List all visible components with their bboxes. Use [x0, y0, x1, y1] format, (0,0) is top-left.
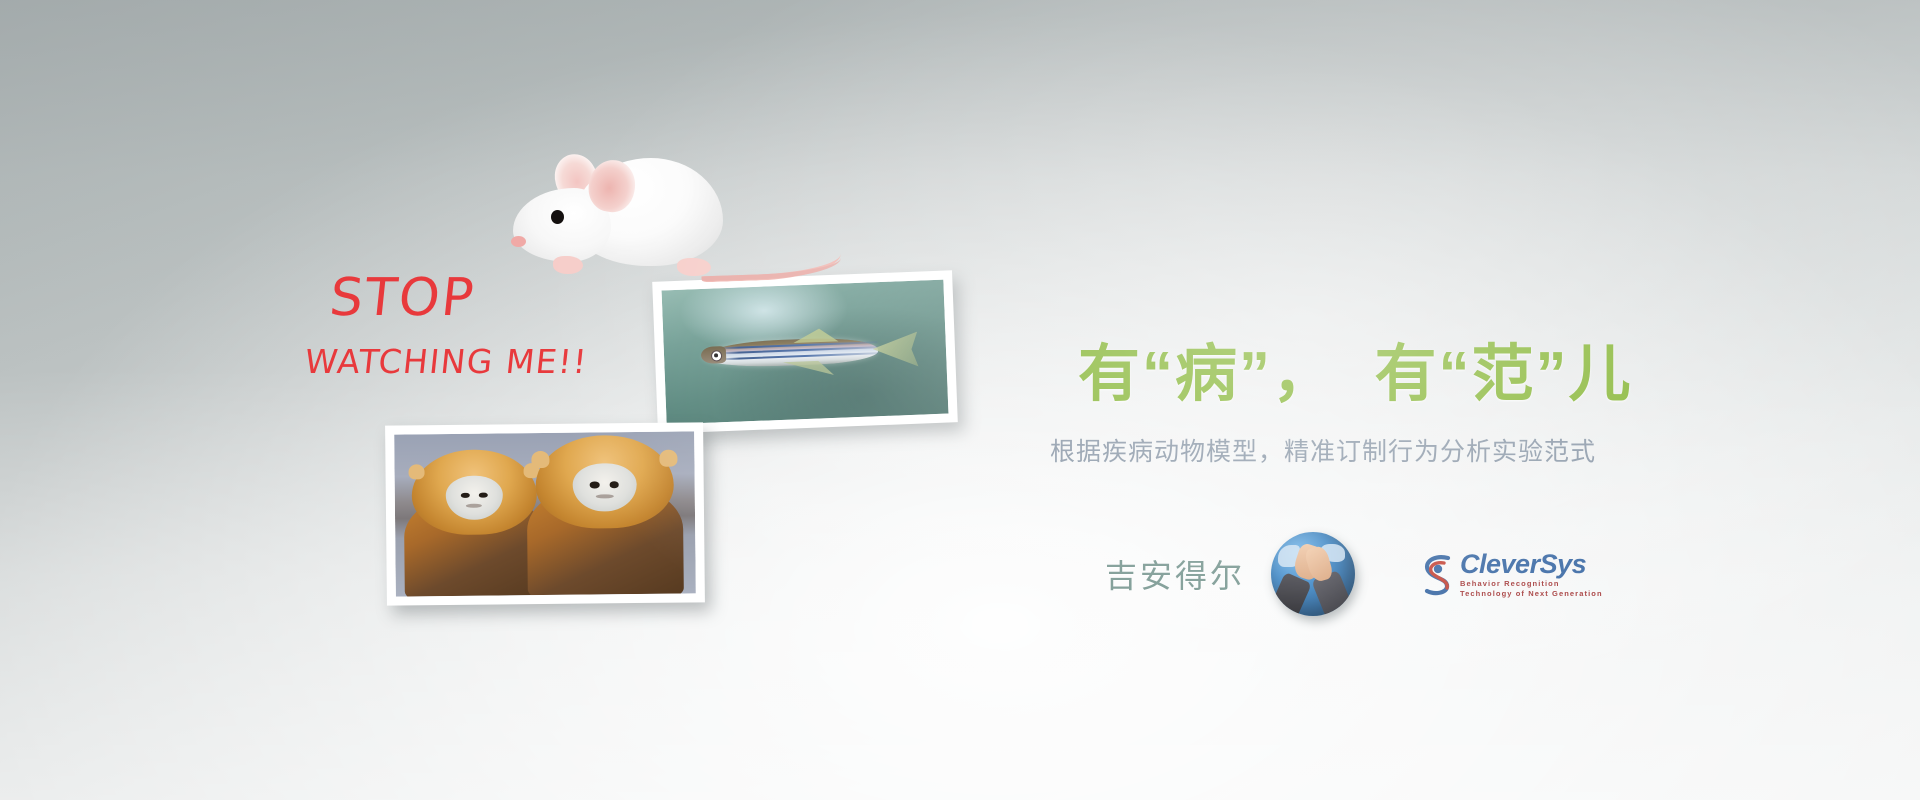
fish-tail-fin	[872, 332, 918, 369]
cleversys-logo[interactable]: CleverSys Behavior Recognition Technolog…	[1421, 551, 1603, 597]
monkey-eye	[590, 482, 600, 488]
cleversys-wordmark: CleverSys Behavior Recognition Technolog…	[1460, 551, 1603, 597]
mouse-eye	[551, 210, 564, 224]
monkey-face-shape	[573, 463, 637, 512]
golden-monkeys-photo-inner	[394, 431, 696, 596]
page-subtitle: 根据疾病动物模型，精准订制行为分析实验范式	[1050, 432, 1596, 468]
monkey-mouth	[596, 494, 614, 499]
brand-row: 吉安得尔 CleverSys Behavior Recognition	[1105, 532, 1603, 616]
brand-chinese-name: 吉安得尔	[1105, 551, 1245, 597]
monkey-ear	[532, 451, 550, 468]
mouse-nose	[511, 236, 526, 247]
monkey-eye	[461, 492, 470, 498]
mouse-tail	[701, 246, 842, 282]
mouse-foot	[677, 258, 711, 276]
monkey-head-shape	[536, 435, 674, 529]
hero-banner: STOP WATCHING ME!! 有“病”， 有“范”儿 根据疾病动物模型，…	[0, 0, 1920, 800]
monkey-head-shape	[412, 449, 537, 536]
mouse-foot	[553, 256, 583, 274]
globe-handshake-logo[interactable]	[1271, 532, 1355, 616]
cleversys-tagline-line2: Technology of Next Generation	[1460, 590, 1603, 598]
stop-callout-text: STOP	[327, 272, 478, 324]
page-title: 有“病”， 有“范”儿	[1078, 342, 1632, 407]
monkey-mouth	[466, 504, 482, 508]
golden-monkeys-photo[interactable]	[385, 422, 705, 605]
monkey-eye	[479, 492, 488, 498]
monkey-left	[403, 449, 546, 596]
monkey-ear	[659, 450, 677, 467]
cleversys-tagline-line1: Behavior Recognition	[1460, 580, 1603, 588]
monkey-right	[526, 435, 684, 597]
fish-dorsal-fin	[793, 328, 839, 343]
zebrafish-image	[662, 280, 949, 425]
cleversys-swoosh-icon	[1421, 552, 1455, 596]
monkey-ear	[408, 464, 424, 480]
monkey-eye	[610, 481, 620, 487]
monkey-face-shape	[446, 475, 504, 520]
lab-mouse-cutout	[505, 148, 835, 298]
cleversys-name: CleverSys	[1460, 551, 1603, 578]
golden-monkeys-image	[394, 431, 696, 596]
watching-me-callout-text: WATCHING ME!!	[303, 345, 589, 378]
zebrafish-photo-inner	[662, 280, 949, 425]
